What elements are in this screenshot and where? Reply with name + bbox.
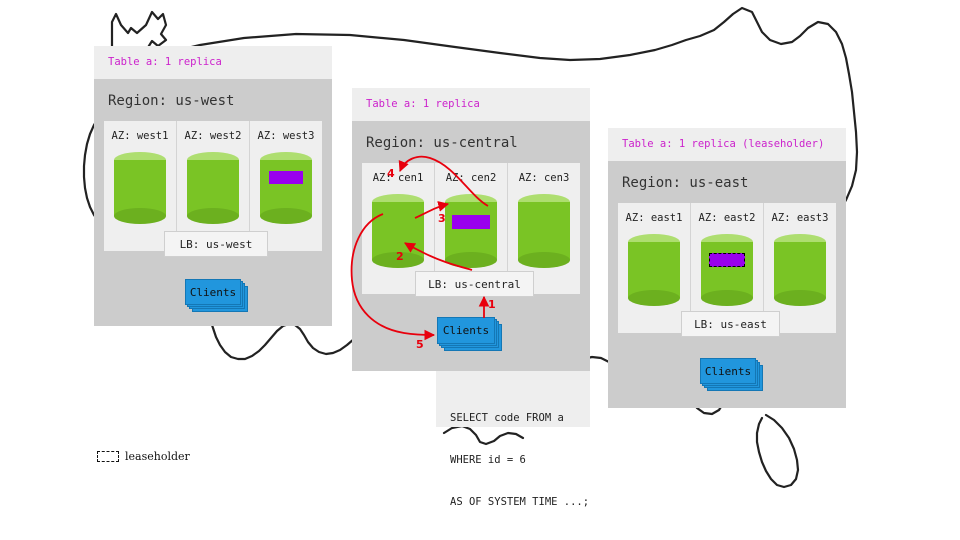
step-number-3: 3: [438, 212, 446, 225]
clients-label-us-east[interactable]: Clients: [700, 358, 756, 384]
az-label-west1: AZ: west1: [112, 121, 169, 142]
node-cylinder-cen3[interactable]: [518, 194, 570, 268]
clients-stack-us-central[interactable]: Clients: [437, 317, 509, 355]
node-cylinder-east2[interactable]: [701, 234, 753, 306]
region-title-us-east: Region: us-east: [608, 161, 846, 203]
az-label-west3: AZ: west3: [258, 121, 315, 142]
az-label-cen1: AZ: cen1: [373, 163, 424, 184]
cylinder-body: [445, 202, 497, 260]
sql-line-1: SELECT code FROM a: [450, 411, 576, 425]
clients-stack-us-west[interactable]: Clients: [185, 279, 251, 315]
cylinder-body: [518, 202, 570, 260]
az-label-west2: AZ: west2: [185, 121, 242, 142]
replica-block-west3[interactable]: [269, 171, 303, 184]
cylinder-bottom-ellipse: [774, 290, 826, 306]
cylinder-bottom-ellipse: [445, 252, 497, 268]
step-number-5: 5: [416, 338, 424, 351]
node-cylinder-east3[interactable]: [774, 234, 826, 306]
az-label-cen3: AZ: cen3: [519, 163, 570, 184]
load-balancer-us-central[interactable]: LB: us-central: [415, 271, 534, 297]
load-balancer-us-east[interactable]: LB: us-east: [681, 311, 780, 337]
diagram-canvas: Table a: 1 replica Region: us-west AZ: w…: [0, 0, 960, 540]
node-cylinder-west3[interactable]: [260, 152, 312, 224]
region-title-us-central: Region: us-central: [352, 121, 590, 163]
step-number-1: 1: [488, 298, 496, 311]
load-balancer-us-west[interactable]: LB: us-west: [164, 231, 268, 257]
cylinder-bottom-ellipse: [628, 290, 680, 306]
clients-label-us-central[interactable]: Clients: [437, 317, 495, 344]
node-cylinder-cen2[interactable]: [445, 194, 497, 268]
node-cylinder-west2[interactable]: [187, 152, 239, 224]
cylinder-bottom-ellipse: [701, 290, 753, 306]
region-card-us-central: Table a: 1 replica Region: us-central AZ…: [352, 88, 590, 371]
dashed-rectangle-swatch: [97, 451, 119, 462]
region-card-us-east: Table a: 1 replica (leaseholder) Region:…: [608, 128, 846, 408]
node-cylinder-east1[interactable]: [628, 234, 680, 306]
cylinder-bottom-ellipse: [260, 208, 312, 224]
clients-stack-us-east[interactable]: Clients: [700, 358, 766, 394]
sql-line-3: AS OF SYSTEM TIME ...;: [450, 495, 576, 509]
region-banner-us-central: Table a: 1 replica: [352, 88, 590, 121]
region-banner-us-east: Table a: 1 replica (leaseholder): [608, 128, 846, 161]
region-card-us-west: Table a: 1 replica Region: us-west AZ: w…: [94, 46, 332, 326]
az-label-east3: AZ: east3: [772, 203, 829, 224]
sql-query-box: SELECT code FROM a WHERE id = 6 AS OF SY…: [436, 371, 590, 427]
sql-line-2: WHERE id = 6: [450, 453, 576, 467]
clients-label-us-west[interactable]: Clients: [185, 279, 241, 305]
az-label-cen2: AZ: cen2: [446, 163, 497, 184]
replica-block-east2-leaseholder[interactable]: [709, 253, 745, 267]
node-cylinder-west1[interactable]: [114, 152, 166, 224]
legend-label: leaseholder: [125, 450, 190, 463]
replica-block-cen2[interactable]: [452, 215, 490, 229]
cylinder-bottom-ellipse: [114, 208, 166, 224]
az-label-east1: AZ: east1: [626, 203, 683, 224]
cylinder-bottom-ellipse: [518, 252, 570, 268]
legend-leaseholder: leaseholder: [97, 450, 190, 463]
cylinder-bottom-ellipse: [187, 208, 239, 224]
region-banner-us-west: Table a: 1 replica: [94, 46, 332, 79]
step-number-4: 4: [387, 167, 395, 180]
step-number-2: 2: [396, 250, 404, 263]
region-title-us-west: Region: us-west: [94, 79, 332, 121]
az-label-east2: AZ: east2: [699, 203, 756, 224]
